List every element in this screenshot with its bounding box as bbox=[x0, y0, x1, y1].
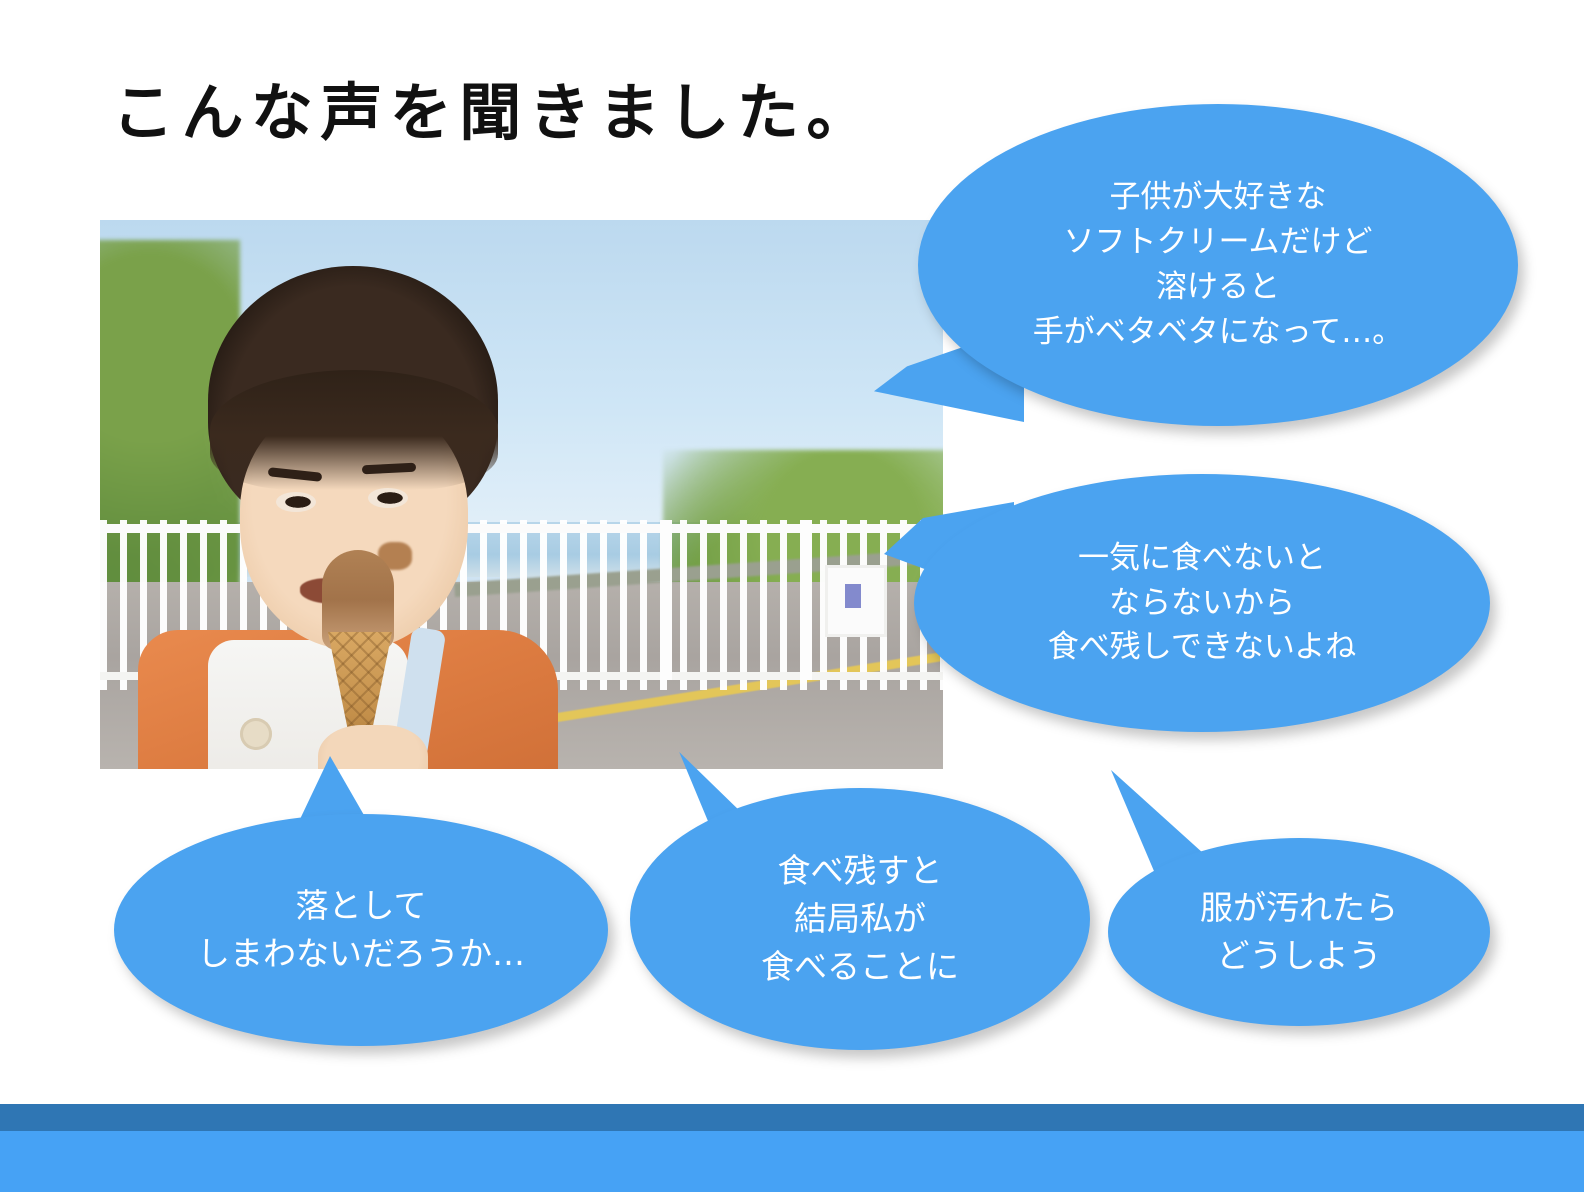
photo-child-hand bbox=[318, 725, 428, 769]
footer-band-dark bbox=[0, 1104, 1584, 1131]
photo-sign-pictogram bbox=[843, 584, 863, 608]
slide-canvas: こんな声を聞きました。 子供が大好きな bbox=[0, 0, 1584, 1192]
speech-bubble-2[interactable]: 一気に食べないと ならないから 食べ残しできないよね bbox=[914, 474, 1490, 732]
speech-bubble-text-2: 一気に食べないと ならないから 食べ残しできないよね bbox=[1022, 536, 1382, 671]
speech-bubble-text-1: 子供が大好きな ソフトクリームだけど 溶けると 手がベタベタになって…。 bbox=[1007, 175, 1429, 355]
speech-bubble-3[interactable]: 落として しまわないだろうか… bbox=[114, 814, 608, 1046]
photo-overall-button bbox=[240, 718, 272, 750]
speech-bubble-4[interactable]: 食べ残すと 結局私が 食べることに bbox=[630, 788, 1090, 1050]
speech-bubble-text-4: 食べ残すと 結局私が 食べることに bbox=[735, 847, 985, 991]
page-title: こんな声を聞きました。 bbox=[112, 82, 876, 144]
footer-band-light bbox=[0, 1131, 1584, 1192]
photo-child-fringe bbox=[210, 370, 498, 490]
photo-fence-rail-top bbox=[100, 524, 943, 533]
photo-child-eye-left bbox=[276, 492, 316, 512]
hero-photo bbox=[100, 220, 943, 769]
speech-bubble-5[interactable]: 服が汚れたら どうしよう bbox=[1108, 838, 1490, 1026]
photo-child-eye-right bbox=[368, 488, 408, 508]
photo-fence-post-2 bbox=[800, 520, 812, 680]
speech-bubble-text-3: 落として しまわないだろうか… bbox=[171, 882, 551, 978]
speech-bubble-1[interactable]: 子供が大好きな ソフトクリームだけど 溶けると 手がベタベタになって…。 bbox=[918, 104, 1518, 426]
photo-fence-post-1 bbox=[660, 520, 672, 680]
speech-bubble-text-5: 服が汚れたら どうしよう bbox=[1174, 884, 1424, 980]
